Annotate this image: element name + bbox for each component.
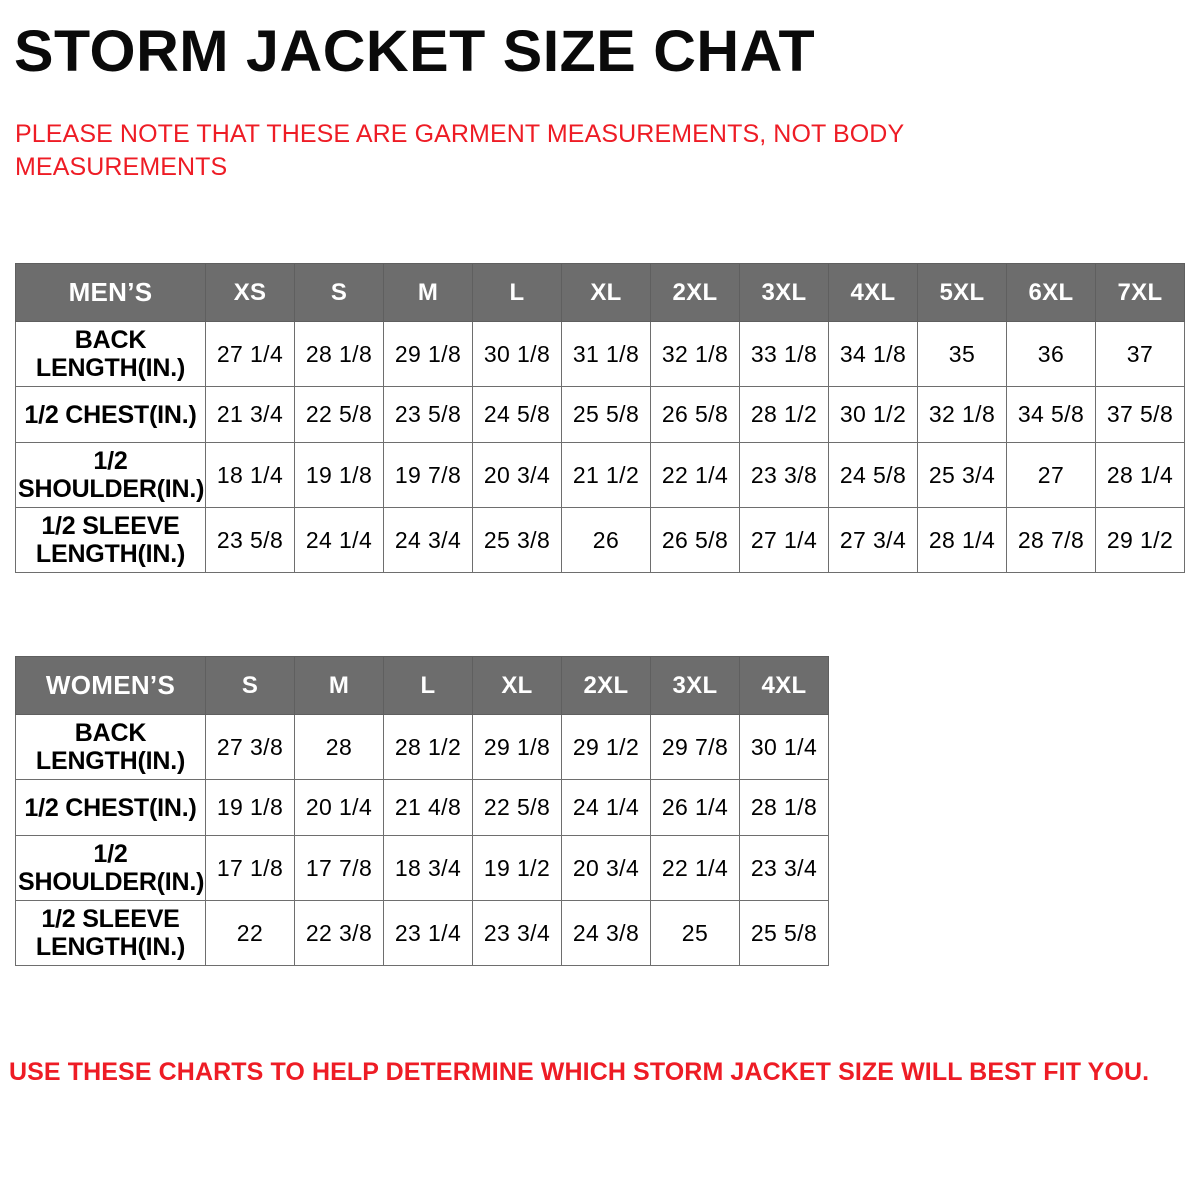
mens-col-header-m: M (384, 264, 473, 322)
label-line-2: LENGTH(IN.) (36, 747, 185, 775)
cell-mens-sleeve-s: 24 1/4 (295, 508, 384, 573)
cell-womens-chest-l: 21 4/8 (384, 780, 473, 836)
cell-womens-sleeve-3xl: 25 (651, 901, 740, 966)
table-row: 1/2 SLEEVE LENGTH(IN.) 22 22 3/8 23 1/4 … (16, 901, 829, 966)
cell-mens-sleeve-4xl: 27 3/4 (829, 508, 918, 573)
womens-row-label-chest: 1/2 CHEST(IN.) (16, 780, 206, 836)
cell-mens-chest-xl: 25 5/8 (562, 387, 651, 443)
cell-mens-chest-xs: 21 3/4 (206, 387, 295, 443)
cell-mens-chest-2xl: 26 5/8 (651, 387, 740, 443)
cell-mens-sleeve-5xl: 28 1/4 (918, 508, 1007, 573)
label-line-1: BACK (75, 326, 146, 354)
cell-mens-back-length-7xl: 37 (1096, 322, 1185, 387)
cell-womens-back-length-s: 27 3/8 (206, 715, 295, 780)
cell-mens-back-length-s: 28 1/8 (295, 322, 384, 387)
cell-womens-back-length-3xl: 29 7/8 (651, 715, 740, 780)
cell-mens-shoulder-6xl: 27 (1007, 443, 1096, 508)
cell-mens-sleeve-6xl: 28 7/8 (1007, 508, 1096, 573)
cell-womens-sleeve-l: 23 1/4 (384, 901, 473, 966)
cell-womens-sleeve-s: 22 (206, 901, 295, 966)
usage-note: USE THESE CHARTS TO HELP DETERMINE WHICH… (9, 1057, 1189, 1087)
garment-measurement-note: PLEASE NOTE THAT THESE ARE GARMENT MEASU… (15, 118, 975, 184)
cell-mens-shoulder-5xl: 25 3/4 (918, 443, 1007, 508)
cell-womens-back-length-m: 28 (295, 715, 384, 780)
cell-mens-shoulder-s: 19 1/8 (295, 443, 384, 508)
mens-row-label-sleeve-length: 1/2 SLEEVE LENGTH(IN.) (16, 508, 206, 573)
womens-corner-header: WOMEN’S (16, 657, 206, 715)
label-line-2: LENGTH(IN.) (36, 933, 185, 961)
cell-mens-chest-s: 22 5/8 (295, 387, 384, 443)
mens-col-header-s: S (295, 264, 384, 322)
mens-row-label-shoulder: 1/2 SHOULDER(IN.) (16, 443, 206, 508)
cell-mens-chest-5xl: 32 1/8 (918, 387, 1007, 443)
table-row: 1/2 CHEST(IN.) 19 1/8 20 1/4 21 4/8 22 5… (16, 780, 829, 836)
cell-womens-chest-4xl: 28 1/8 (740, 780, 829, 836)
cell-mens-shoulder-3xl: 23 3/8 (740, 443, 829, 508)
cell-womens-shoulder-l: 18 3/4 (384, 836, 473, 901)
womens-table-head: WOMEN’S S M L XL 2XL 3XL 4XL (16, 657, 829, 715)
cell-womens-chest-s: 19 1/8 (206, 780, 295, 836)
label-line-2: LENGTH(IN.) (36, 540, 185, 568)
mens-table-body: BACK LENGTH(IN.) 27 1/4 28 1/8 29 1/8 30… (16, 322, 1185, 573)
cell-mens-chest-7xl: 37 5/8 (1096, 387, 1185, 443)
womens-row-label-back-length: BACK LENGTH(IN.) (16, 715, 206, 780)
womens-col-header-2xl: 2XL (562, 657, 651, 715)
label-line-2: LENGTH(IN.) (36, 354, 185, 382)
page-title: STORM JACKET SIZE CHAT (14, 22, 815, 83)
cell-mens-sleeve-m: 24 3/4 (384, 508, 473, 573)
cell-mens-chest-l: 24 5/8 (473, 387, 562, 443)
cell-mens-sleeve-xs: 23 5/8 (206, 508, 295, 573)
cell-mens-back-length-4xl: 34 1/8 (829, 322, 918, 387)
table-row: BACK LENGTH(IN.) 27 1/4 28 1/8 29 1/8 30… (16, 322, 1185, 387)
cell-mens-sleeve-3xl: 27 1/4 (740, 508, 829, 573)
cell-womens-back-length-4xl: 30 1/4 (740, 715, 829, 780)
cell-womens-chest-xl: 22 5/8 (473, 780, 562, 836)
mens-col-header-7xl: 7XL (1096, 264, 1185, 322)
cell-womens-chest-m: 20 1/4 (295, 780, 384, 836)
mens-corner-header: MEN’S (16, 264, 206, 322)
womens-col-header-s: S (206, 657, 295, 715)
cell-mens-back-length-2xl: 32 1/8 (651, 322, 740, 387)
womens-col-header-m: M (295, 657, 384, 715)
mens-col-header-6xl: 6XL (1007, 264, 1096, 322)
label-line-1: 1/2 SLEEVE (41, 512, 179, 540)
mens-header-row: MEN’S XS S M L XL 2XL 3XL 4XL 5XL 6XL 7X… (16, 264, 1185, 322)
womens-size-table: WOMEN’S S M L XL 2XL 3XL 4XL BACK LENGTH… (15, 656, 829, 966)
cell-mens-chest-3xl: 28 1/2 (740, 387, 829, 443)
mens-col-header-3xl: 3XL (740, 264, 829, 322)
cell-mens-chest-4xl: 30 1/2 (829, 387, 918, 443)
table-row: 1/2 SLEEVE LENGTH(IN.) 23 5/8 24 1/4 24 … (16, 508, 1185, 573)
cell-womens-sleeve-4xl: 25 5/8 (740, 901, 829, 966)
cell-mens-shoulder-m: 19 7/8 (384, 443, 473, 508)
label-line-1: 1/2 SLEEVE (41, 905, 179, 933)
cell-mens-shoulder-xs: 18 1/4 (206, 443, 295, 508)
mens-size-table: MEN’S XS S M L XL 2XL 3XL 4XL 5XL 6XL 7X… (15, 263, 1185, 573)
cell-mens-sleeve-xl: 26 (562, 508, 651, 573)
cell-mens-sleeve-7xl: 29 1/2 (1096, 508, 1185, 573)
cell-mens-back-length-3xl: 33 1/8 (740, 322, 829, 387)
cell-womens-chest-3xl: 26 1/4 (651, 780, 740, 836)
womens-row-label-shoulder: 1/2 SHOULDER(IN.) (16, 836, 206, 901)
size-chart-page: STORM JACKET SIZE CHAT PLEASE NOTE THAT … (0, 0, 1200, 1200)
cell-womens-back-length-xl: 29 1/8 (473, 715, 562, 780)
mens-row-label-chest: 1/2 CHEST(IN.) (16, 387, 206, 443)
cell-mens-sleeve-l: 25 3/8 (473, 508, 562, 573)
cell-mens-chest-m: 23 5/8 (384, 387, 473, 443)
cell-womens-sleeve-2xl: 24 3/8 (562, 901, 651, 966)
cell-womens-back-length-2xl: 29 1/2 (562, 715, 651, 780)
mens-col-header-2xl: 2XL (651, 264, 740, 322)
cell-mens-shoulder-4xl: 24 5/8 (829, 443, 918, 508)
cell-mens-back-length-5xl: 35 (918, 322, 1007, 387)
cell-womens-shoulder-xl: 19 1/2 (473, 836, 562, 901)
cell-mens-chest-6xl: 34 5/8 (1007, 387, 1096, 443)
cell-womens-shoulder-3xl: 22 1/4 (651, 836, 740, 901)
mens-col-header-5xl: 5XL (918, 264, 1007, 322)
cell-mens-back-length-xs: 27 1/4 (206, 322, 295, 387)
cell-womens-sleeve-m: 22 3/8 (295, 901, 384, 966)
cell-womens-shoulder-s: 17 1/8 (206, 836, 295, 901)
label-line-1: BACK (75, 719, 146, 747)
cell-mens-shoulder-l: 20 3/4 (473, 443, 562, 508)
cell-womens-back-length-l: 28 1/2 (384, 715, 473, 780)
cell-mens-back-length-l: 30 1/8 (473, 322, 562, 387)
womens-col-header-l: L (384, 657, 473, 715)
womens-col-header-4xl: 4XL (740, 657, 829, 715)
womens-table-body: BACK LENGTH(IN.) 27 3/8 28 28 1/2 29 1/8… (16, 715, 829, 966)
cell-mens-shoulder-7xl: 28 1/4 (1096, 443, 1185, 508)
cell-mens-back-length-6xl: 36 (1007, 322, 1096, 387)
womens-col-header-3xl: 3XL (651, 657, 740, 715)
mens-col-header-xl: XL (562, 264, 651, 322)
cell-mens-shoulder-xl: 21 1/2 (562, 443, 651, 508)
cell-mens-back-length-m: 29 1/8 (384, 322, 473, 387)
mens-row-label-back-length: BACK LENGTH(IN.) (16, 322, 206, 387)
table-row: BACK LENGTH(IN.) 27 3/8 28 28 1/2 29 1/8… (16, 715, 829, 780)
womens-header-row: WOMEN’S S M L XL 2XL 3XL 4XL (16, 657, 829, 715)
table-row: 1/2 SHOULDER(IN.) 18 1/4 19 1/8 19 7/8 2… (16, 443, 1185, 508)
womens-row-label-sleeve-length: 1/2 SLEEVE LENGTH(IN.) (16, 901, 206, 966)
cell-womens-chest-2xl: 24 1/4 (562, 780, 651, 836)
cell-womens-shoulder-4xl: 23 3/4 (740, 836, 829, 901)
cell-mens-sleeve-2xl: 26 5/8 (651, 508, 740, 573)
cell-womens-shoulder-2xl: 20 3/4 (562, 836, 651, 901)
mens-table-head: MEN’S XS S M L XL 2XL 3XL 4XL 5XL 6XL 7X… (16, 264, 1185, 322)
mens-col-header-l: L (473, 264, 562, 322)
mens-col-header-xs: XS (206, 264, 295, 322)
table-row: 1/2 SHOULDER(IN.) 17 1/8 17 7/8 18 3/4 1… (16, 836, 829, 901)
cell-mens-back-length-xl: 31 1/8 (562, 322, 651, 387)
cell-womens-shoulder-m: 17 7/8 (295, 836, 384, 901)
cell-womens-sleeve-xl: 23 3/4 (473, 901, 562, 966)
womens-col-header-xl: XL (473, 657, 562, 715)
cell-mens-shoulder-2xl: 22 1/4 (651, 443, 740, 508)
table-row: 1/2 CHEST(IN.) 21 3/4 22 5/8 23 5/8 24 5… (16, 387, 1185, 443)
mens-col-header-4xl: 4XL (829, 264, 918, 322)
